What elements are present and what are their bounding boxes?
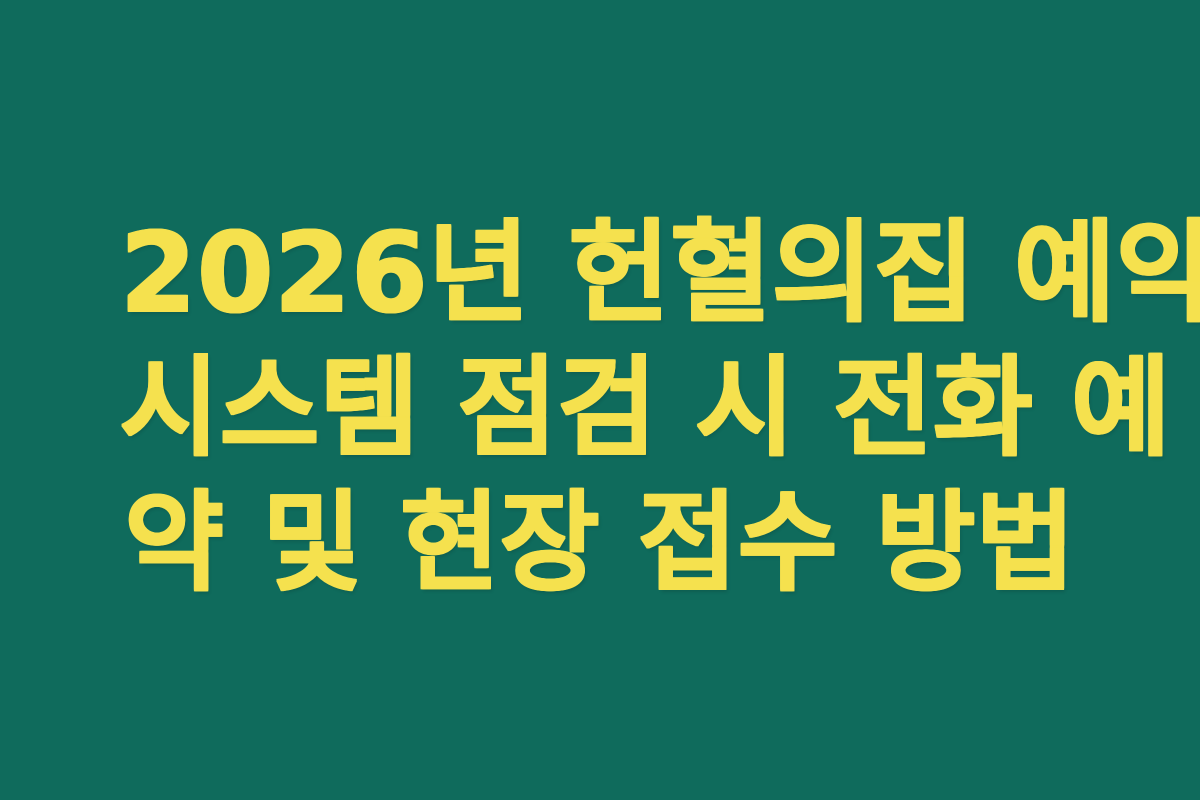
title-line-3: 약 및 현장 접수 방법 (120, 476, 1080, 611)
thumbnail-card: 2026년 헌혈의집 예약 시스템 점검 시 전화 예 약 및 현장 접수 방법 (0, 0, 1200, 800)
title-block: 2026년 헌혈의집 예약 시스템 점검 시 전화 예 약 및 현장 접수 방법 (100, 206, 1100, 611)
title-line-2: 시스템 점검 시 전화 예 (120, 341, 1080, 476)
title-line-1: 2026년 헌혈의집 예약 (120, 206, 1080, 341)
